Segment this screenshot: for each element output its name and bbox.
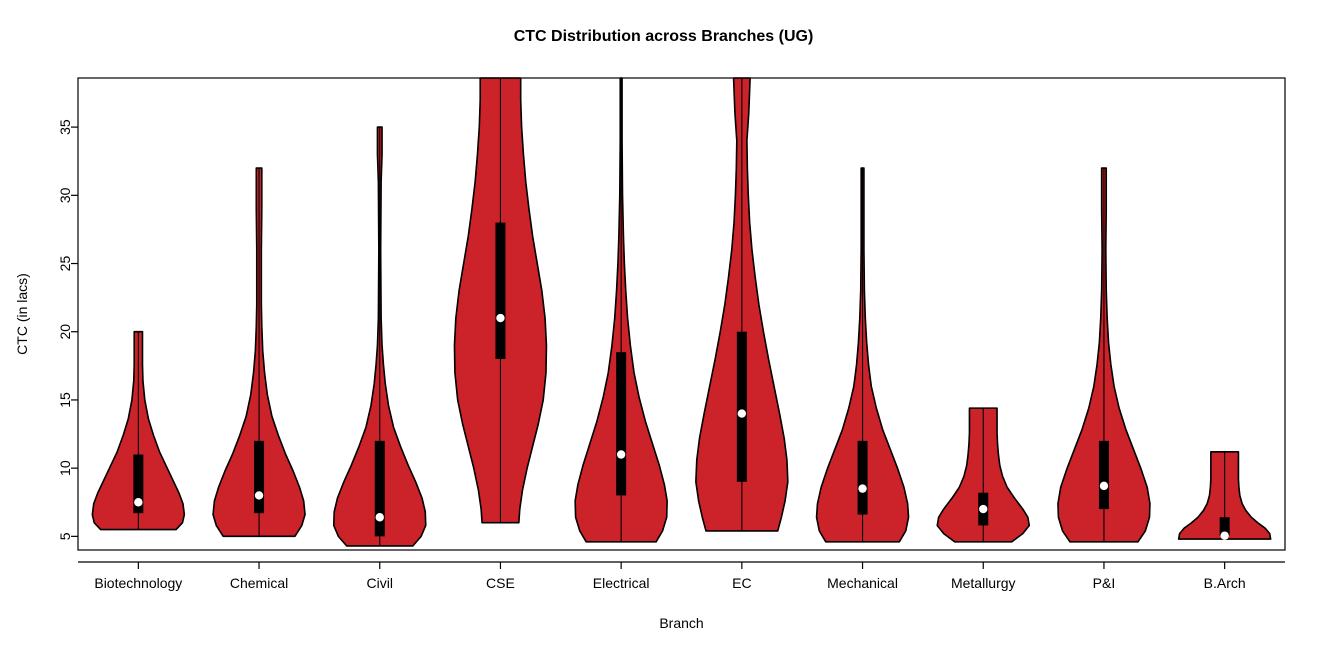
median-marker (496, 314, 504, 322)
median-marker (255, 491, 263, 499)
median-marker (858, 484, 866, 492)
iqr-box (737, 332, 747, 482)
median-marker (979, 505, 987, 513)
x-tick-label-ec: EC (732, 575, 751, 591)
y-axis-title: CTC (in lacs) (14, 273, 30, 355)
y-tick-label: 15 (57, 392, 73, 408)
x-tick-label-cse: CSE (486, 575, 515, 591)
iqr-box (616, 352, 626, 495)
median-marker (617, 450, 625, 458)
x-tick-label-civil: Civil (367, 575, 393, 591)
x-tick-label-chemical: Chemical (230, 575, 288, 591)
median-marker (738, 409, 746, 417)
iqr-box (375, 441, 385, 536)
iqr-box (858, 441, 868, 515)
violin-plot-page: CTC Distribution across Branches (UG) 51… (0, 0, 1327, 653)
y-tick-label: 30 (57, 187, 73, 203)
median-marker (134, 498, 142, 506)
iqr-box (254, 441, 264, 513)
x-tick-label-mechanical: Mechanical (827, 575, 898, 591)
iqr-box (495, 223, 505, 359)
y-tick-label: 20 (57, 324, 73, 340)
y-tick-label: 35 (57, 119, 73, 135)
iqr-box (1099, 441, 1109, 509)
median-marker (1220, 531, 1228, 539)
y-tick-label: 10 (57, 460, 73, 476)
y-tick-label: 25 (57, 256, 73, 272)
median-marker (1100, 482, 1108, 490)
y-tick-label: 5 (57, 532, 73, 540)
x-tick-label-p-i: P&I (1093, 575, 1116, 591)
violins-layer (92, 78, 1270, 546)
x-axis-title: Branch (659, 615, 703, 631)
x-tick-label-metallurgy: Metallurgy (951, 575, 1016, 591)
x-tick-label-b-arch: B.Arch (1204, 575, 1246, 591)
x-tick-label-biotechnology: Biotechnology (94, 575, 182, 591)
chart-canvas: 5101520253035CTC (in lacs)BiotechnologyC… (0, 0, 1327, 653)
median-marker (376, 513, 384, 521)
x-tick-label-electrical: Electrical (593, 575, 650, 591)
